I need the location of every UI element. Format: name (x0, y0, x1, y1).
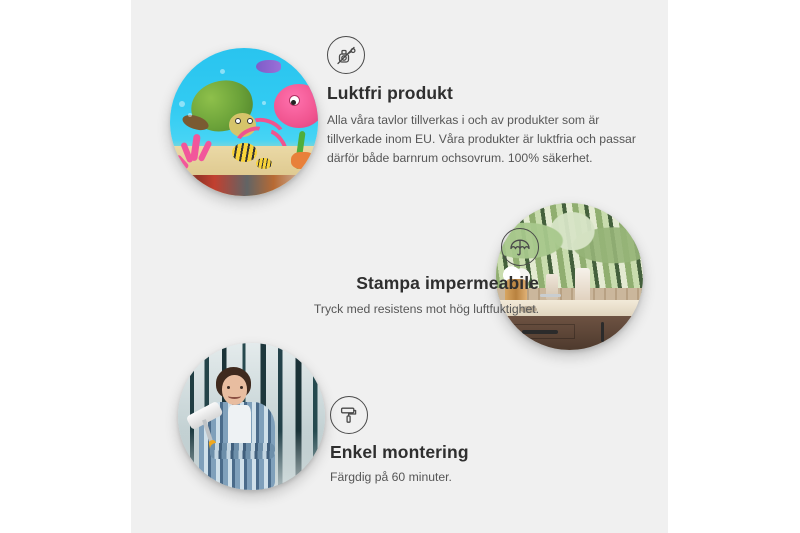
feature-odorless: Luktfri produkt Alla våra tavlor tillver… (327, 36, 637, 169)
turtle-eye-left (235, 118, 241, 124)
feature-body: Färgdig på 60 minuter. (330, 468, 630, 487)
paint-roller-icon (330, 396, 368, 434)
page-root: Luktfri produkt Alla våra tavlor tillver… (0, 0, 800, 533)
content-panel: Luktfri produkt Alla våra tavlor tillver… (131, 0, 668, 533)
no-odor-perfume-bottle-icon (327, 36, 365, 74)
feature-title: Enkel montering (330, 442, 630, 464)
soap-dispenser (575, 268, 590, 303)
purple-fish (256, 60, 281, 73)
bubble-decoration (188, 113, 192, 117)
face (222, 375, 247, 404)
feature-body: Tryck med resistens mot hög luftfuktighe… (217, 300, 539, 319)
product-image-painter[interactable] (178, 343, 325, 490)
door-handle (601, 322, 604, 342)
octopus-pupil (291, 100, 296, 105)
feature-title: Stampa impermeabile (217, 273, 539, 295)
crossed-arms (210, 443, 275, 459)
pink-coral (179, 134, 223, 178)
vanity-cabinet (502, 316, 643, 350)
feature-waterproof: Stampa impermeabile Tryck med resistens … (217, 228, 539, 319)
faucet (540, 294, 561, 297)
eye-left (227, 386, 230, 389)
drawer-handle (522, 330, 559, 334)
feature-title: Luktfri produkt (327, 83, 637, 105)
bubble-decoration (179, 101, 185, 107)
bottom-photo-band (170, 175, 318, 196)
smile (228, 393, 241, 399)
eye-right (240, 386, 243, 389)
inner-shirt (228, 405, 252, 443)
feature-assembly: Enkel montering Färgdig på 60 minuter. (330, 396, 630, 487)
feature-body: Alla våra tavlor tillverkas i och av pro… (327, 111, 637, 169)
product-image-underwater[interactable] (170, 48, 318, 196)
bubble-decoration (220, 69, 225, 74)
starfish (291, 152, 315, 170)
yellow-striped-fish (232, 143, 257, 162)
umbrella-icon (501, 228, 539, 266)
bubble-decoration (262, 101, 266, 105)
